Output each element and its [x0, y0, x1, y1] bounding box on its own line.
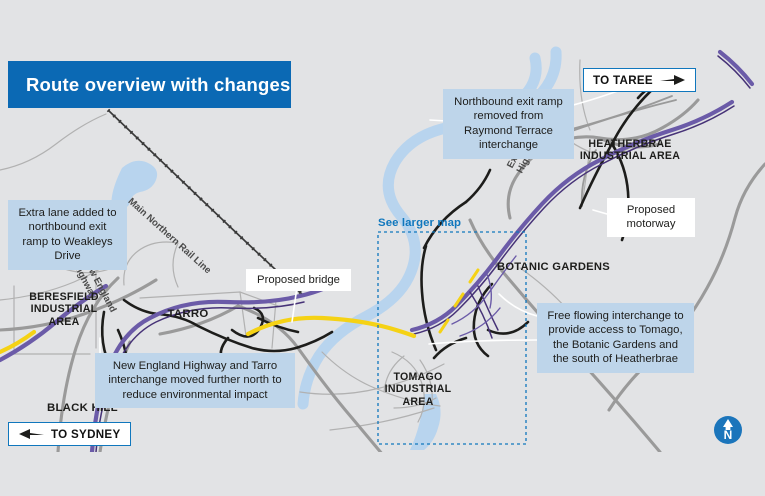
callout-northbound-exit-ramp: Northbound exit ramp removed from Raymon…	[443, 89, 574, 159]
map-figure: Main Northern Rail Line New EnglandHighw…	[0, 0, 765, 496]
callout-extra-lane: Extra lane added to northbound exit ramp…	[8, 200, 127, 270]
direction-box-to-taree[interactable]: TO TAREE	[583, 68, 696, 92]
arrow-left-icon	[18, 428, 44, 440]
place-label-beresfield: BERESFIELD INDUSTRIAL AREA	[14, 291, 114, 328]
bridge-marker-botanic	[440, 270, 478, 332]
place-label-heatherbrae: HEATHERBRAE INDUSTRIAL AREA	[556, 138, 704, 163]
see-larger-map-label[interactable]: See larger map	[378, 217, 461, 229]
callout-free-flowing-interchange: Free flowing interchange to provide acce…	[537, 303, 694, 373]
place-label-botanic-gardens: BOTANIC GARDENS	[497, 261, 627, 273]
callout-proposed-motorway: Proposed motorway	[607, 198, 695, 237]
callout-new-england-highway: New England Highway and Tarro interchang…	[95, 353, 295, 408]
direction-label-to-sydney: TO SYDNEY	[51, 428, 121, 441]
callout-proposed-bridge: Proposed bridge	[246, 269, 351, 291]
place-label-tomago: TOMAGO INDUSTRIAL AREA	[378, 371, 458, 408]
direction-box-to-sydney[interactable]: TO SYDNEY	[8, 422, 131, 446]
north-arrow-icon: N	[713, 415, 743, 445]
direction-label-to-taree: TO TAREE	[593, 74, 653, 87]
map-title-banner: Route overview with changes	[8, 61, 291, 108]
compass-letter: N	[724, 428, 733, 442]
place-label-tarro: TARRO	[158, 308, 218, 320]
page-title: Route overview with changes	[8, 74, 290, 96]
map-canvas[interactable]: Main Northern Rail Line New EnglandHighw…	[0, 0, 765, 452]
arrow-right-icon	[660, 74, 686, 86]
